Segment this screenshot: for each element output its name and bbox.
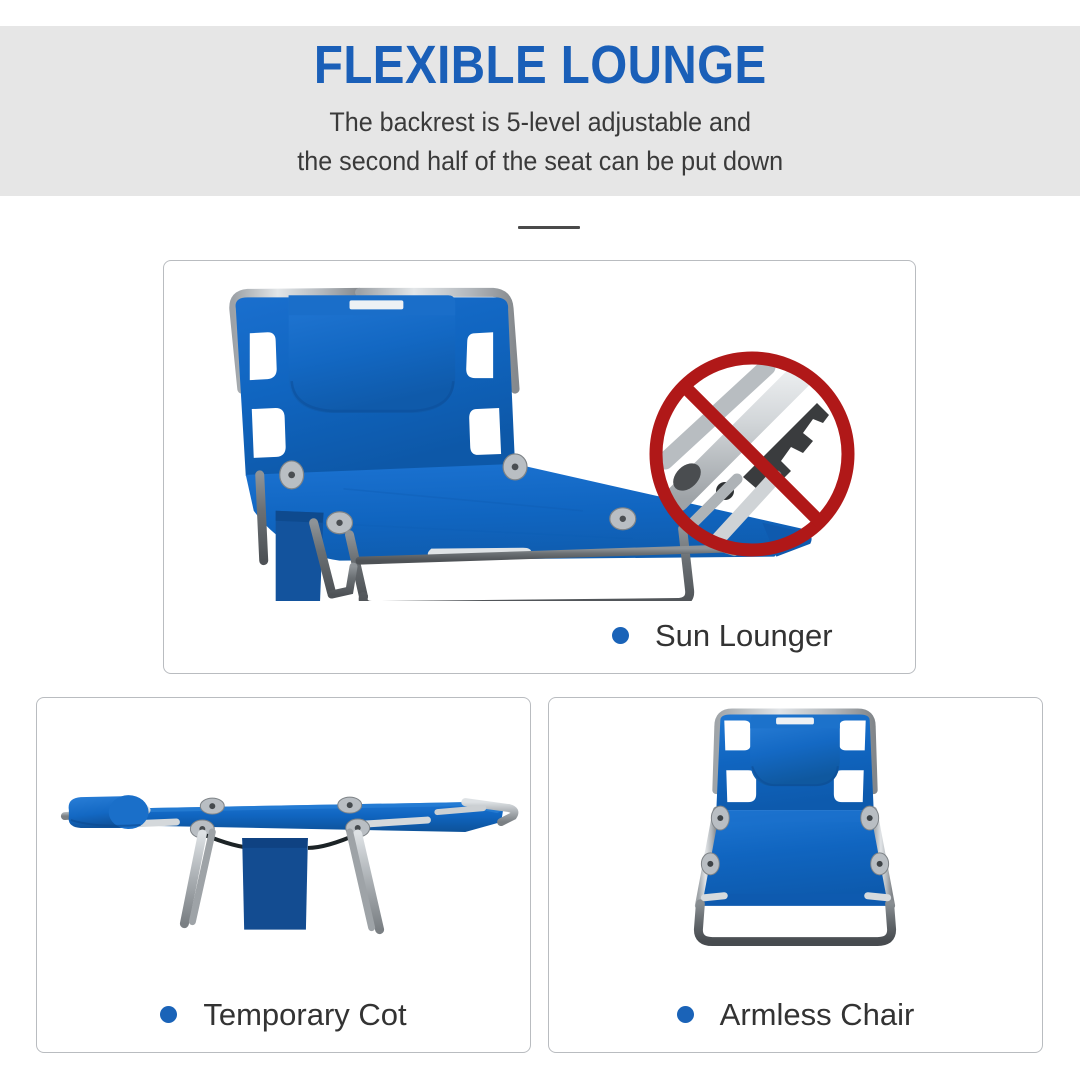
caption-armless-chair: Armless Chair: [549, 999, 1042, 1030]
product-card-temporary-cot[interactable]: Temporary Cot: [36, 697, 531, 1053]
bullet-icon: [612, 627, 629, 644]
infographic-page: FLEXIBLE LOUNGE The backrest is 5-level …: [0, 0, 1080, 1080]
product-card-armless-chair[interactable]: Armless Chair: [548, 697, 1043, 1053]
page-subtitle: The backrest is 5-level adjustable and t…: [297, 103, 783, 180]
caption-temporary-cot: Temporary Cot: [37, 999, 530, 1030]
page-subtitle-line-1: The backrest is 5-level adjustable and: [297, 103, 783, 141]
caption-label: Sun Lounger: [655, 620, 833, 651]
armless-chair-front-photo: [549, 698, 1042, 966]
section-divider: [518, 226, 580, 229]
product-card-sun-lounger[interactable]: Sun Lounger: [163, 260, 916, 674]
no-adjust-prohibition-symbol: [647, 349, 857, 559]
caption-sun-lounger: Sun Lounger: [612, 620, 833, 651]
caption-label: Temporary Cot: [203, 999, 406, 1030]
caption-label: Armless Chair: [720, 999, 915, 1030]
header-band: FLEXIBLE LOUNGE The backrest is 5-level …: [0, 26, 1080, 196]
page-subtitle-line-2: the second half of the seat can be put d…: [297, 142, 783, 180]
bullet-icon: [677, 1006, 694, 1023]
flat-cot-photo: [37, 698, 530, 966]
page-title: FLEXIBLE LOUNGE: [314, 36, 767, 95]
bullet-icon: [160, 1006, 177, 1023]
